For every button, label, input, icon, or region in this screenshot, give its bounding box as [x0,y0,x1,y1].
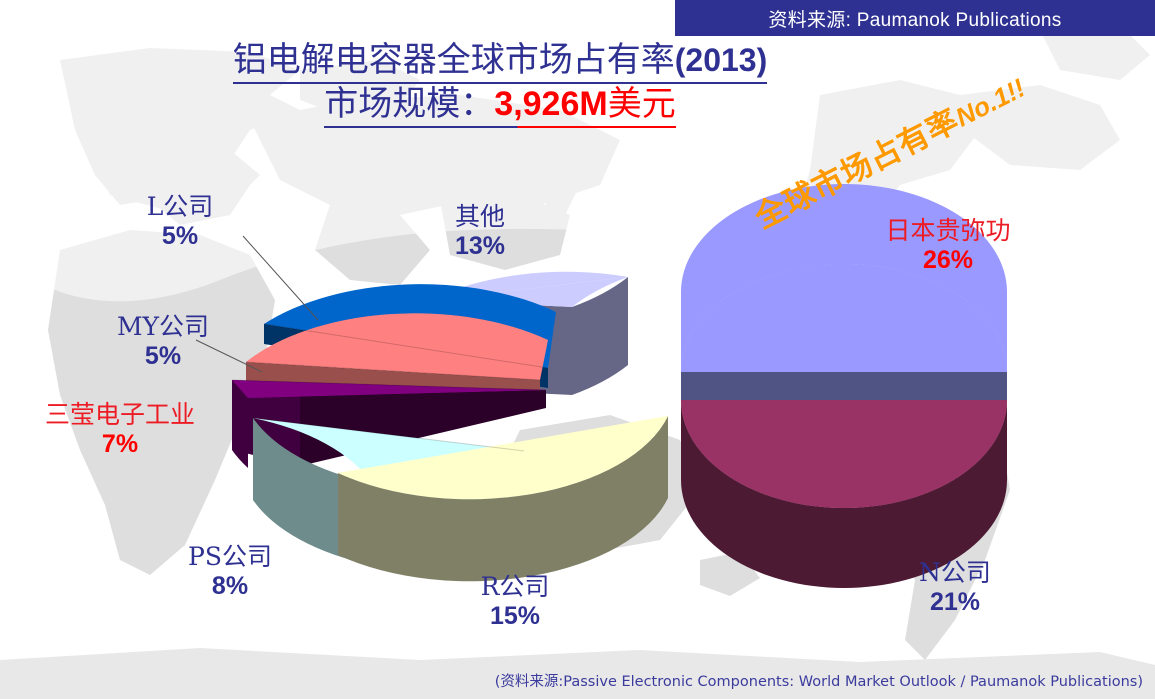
label-sanying: 三莹电子工业 7% [10,400,230,459]
title-scale-unit: 美元 [608,84,676,124]
title-scale-value: 3,926M [494,85,607,123]
label-r-company-name: R公司 [450,572,580,602]
label-r-company-pct: 15% [450,602,580,632]
label-my-company-pct: 5% [78,342,248,372]
title-scale-label: 市场规模： [324,84,494,124]
label-ps-company-pct: 8% [160,572,300,602]
label-l-company-name: L公司 [110,192,250,222]
label-n-company-pct: 21% [890,588,1020,618]
label-sanying-name: 三莹电子工业 [10,400,230,430]
label-ps-company-name: PS公司 [160,542,300,572]
source-band: 资料来源: Paumanok Publications [675,0,1155,36]
label-other-name: 其他 [425,202,535,232]
label-n-company: N公司 21% [890,558,1020,617]
title-line-2: 市场规模：3,926M美元 [0,84,1000,127]
label-my-company: MY公司 5% [78,312,248,371]
label-my-company-name: MY公司 [78,312,248,342]
label-ps-company: PS公司 8% [160,542,300,601]
label-r-company: R公司 15% [450,572,580,631]
label-other: 其他 13% [425,202,535,261]
footer-source: (资料来源:Passive Electronic Components: Wor… [0,670,1143,691]
label-sanying-pct: 7% [10,430,230,460]
page-title: 铝电解电容器全球市场占有率(2013) 市场规模：3,926M美元 [0,40,1000,128]
label-l-company-pct: 5% [110,222,250,252]
title-line-1: 铝电解电容器全球市场占有率(2013) [0,40,1000,84]
slide-canvas: 资料来源: Paumanok Publications 铝电解电容器全球市场占有… [0,0,1155,699]
title-year: (2013) [675,42,768,78]
label-nippon-chemi-con-pct: 26% [858,246,1038,276]
title-main-cn: 铝电解电容器全球市场占有率 [233,40,675,80]
label-nippon-chemi-con: 日本贵弥功 26% [858,216,1038,275]
source-band-text: 资料来源: Paumanok Publications [768,5,1061,32]
label-nippon-chemi-con-name: 日本贵弥功 [858,216,1038,246]
label-l-company: L公司 5% [110,192,250,251]
label-n-company-name: N公司 [890,558,1020,588]
label-other-pct: 13% [425,232,535,262]
